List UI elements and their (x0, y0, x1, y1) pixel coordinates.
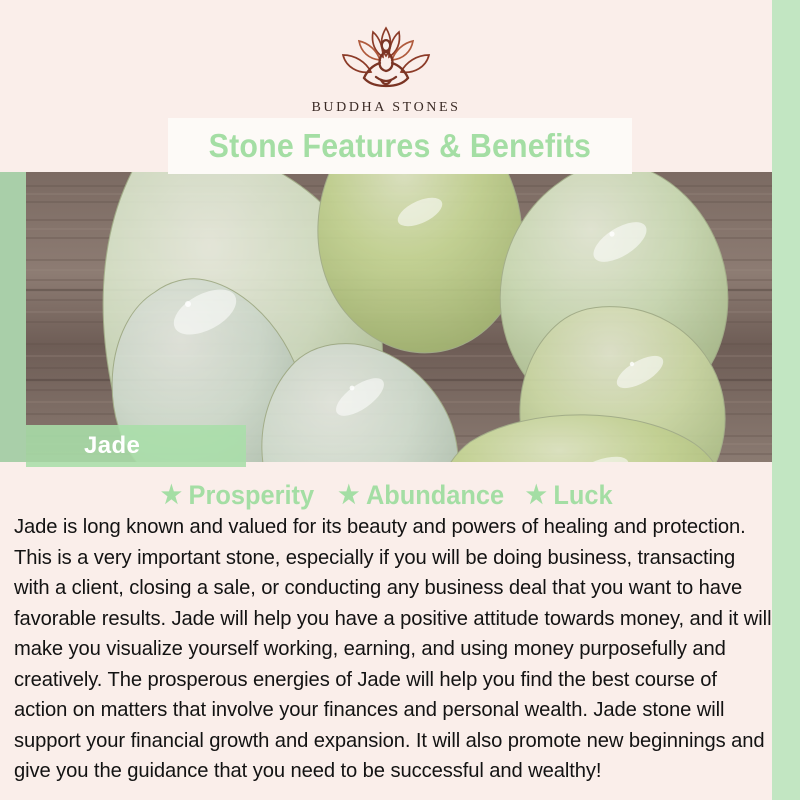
keyword-prosperity: ★ Prosperity (161, 480, 314, 511)
decor-photo-left-accent (0, 172, 26, 462)
stone-info-card: BUDDHA STONES (0, 0, 800, 800)
star-icon: ★ (526, 483, 547, 508)
section-title-banner: Stone Features & Benefits (168, 118, 632, 174)
stone-name: Jade (84, 432, 140, 460)
brand-name: BUDDHA STONES (311, 100, 460, 116)
star-icon: ★ (338, 483, 359, 508)
brand-logo: BUDDHA STONES (0, 22, 772, 116)
stone-photo-image (0, 172, 772, 462)
keyword-abundance: ★ Abundance (338, 480, 504, 511)
stone-name-badge: Jade (26, 425, 246, 467)
star-icon: ★ (161, 483, 182, 508)
page-title: Stone Features & Benefits (209, 127, 592, 165)
keyword-label: Luck (554, 480, 613, 511)
keyword-luck: ★ Luck (526, 480, 613, 511)
stone-description: Jade is long known and valued for its be… (14, 512, 774, 787)
stone-keywords: ★ Prosperity ★ Abundance ★ Luck (0, 478, 772, 512)
lotus-meditation-icon (311, 22, 461, 94)
stone-photo (0, 172, 772, 462)
keyword-label: Abundance (366, 480, 504, 511)
keyword-label: Prosperity (189, 480, 315, 511)
